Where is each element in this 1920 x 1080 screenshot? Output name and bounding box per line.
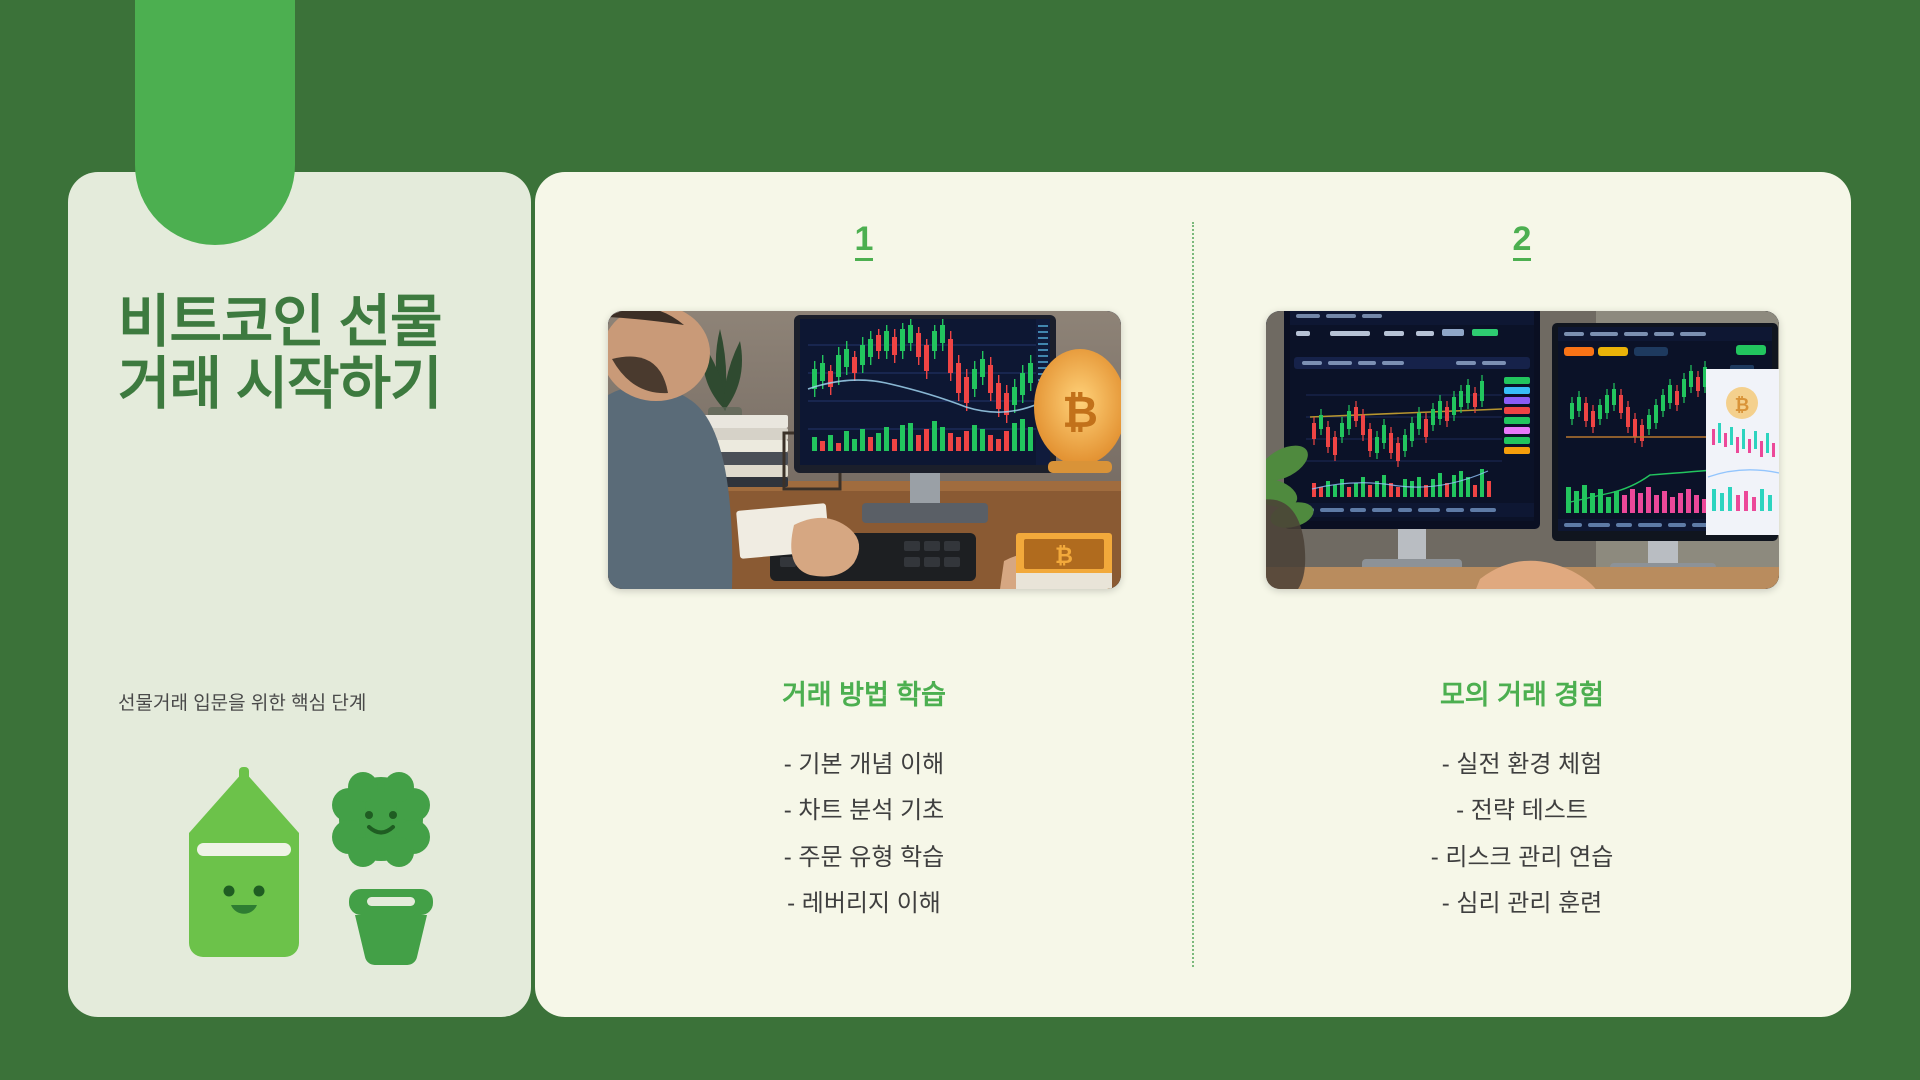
step-column-1: 1: [535, 172, 1193, 1017]
steps-columns: 1: [535, 172, 1851, 1017]
list-item: - 레버리지 이해: [784, 885, 944, 923]
list-item: - 리스크 관리 연습: [1431, 839, 1614, 877]
step-bullets-2: - 실전 환경 체험 - 전략 테스트 - 리스크 관리 연습 - 심리 관리 …: [1431, 746, 1614, 932]
list-item: - 심리 관리 훈련: [1431, 885, 1614, 923]
list-item: - 주문 유형 학습: [784, 839, 944, 877]
page-subtitle: 선물거래 입문을 위한 핵심 단계: [118, 688, 366, 715]
smiling-bush-icon: [332, 772, 430, 867]
list-item: - 전략 테스트: [1431, 792, 1614, 830]
left-title-card: 비트코인 선물거래 시작하기 선물거래 입문을 위한 핵심 단계: [68, 172, 531, 1017]
list-item: - 기본 개념 이해: [784, 746, 944, 784]
decorative-pill-shape: [135, 0, 295, 245]
svg-text:₿: ₿: [1734, 395, 1749, 415]
page-title: 비트코인 선물거래 시작하기: [118, 292, 448, 415]
step-column-2: 2: [1193, 172, 1851, 1017]
steps-card: 1: [535, 172, 1851, 1017]
step-photo-2: ₿: [1266, 311, 1779, 589]
step-heading-2: 모의 거래 경험: [1440, 673, 1604, 712]
step-photo-1: ₿ ₿: [608, 311, 1121, 589]
step-bullets-1: - 기본 개념 이해 - 차트 분석 기초 - 주문 유형 학습 - 레버리지 …: [784, 746, 944, 932]
decorative-illustration: [163, 757, 483, 987]
list-item: - 차트 분석 기초: [784, 792, 944, 830]
svg-text:₿: ₿: [1055, 543, 1073, 568]
step-number-2: 2: [1513, 222, 1532, 261]
planter-box-icon: [349, 889, 433, 965]
step-heading-1: 거래 방법 학습: [782, 673, 946, 712]
svg-text:₿: ₿: [1062, 388, 1098, 437]
list-item: - 실전 환경 체험: [1431, 746, 1614, 784]
slide-root: 비트코인 선물거래 시작하기 선물거래 입문을 위한 핵심 단계: [0, 0, 1920, 1080]
step-number-1: 1: [855, 222, 874, 261]
title-block: 비트코인 선물거래 시작하기: [118, 292, 508, 415]
smiling-basket-icon: [189, 767, 299, 957]
